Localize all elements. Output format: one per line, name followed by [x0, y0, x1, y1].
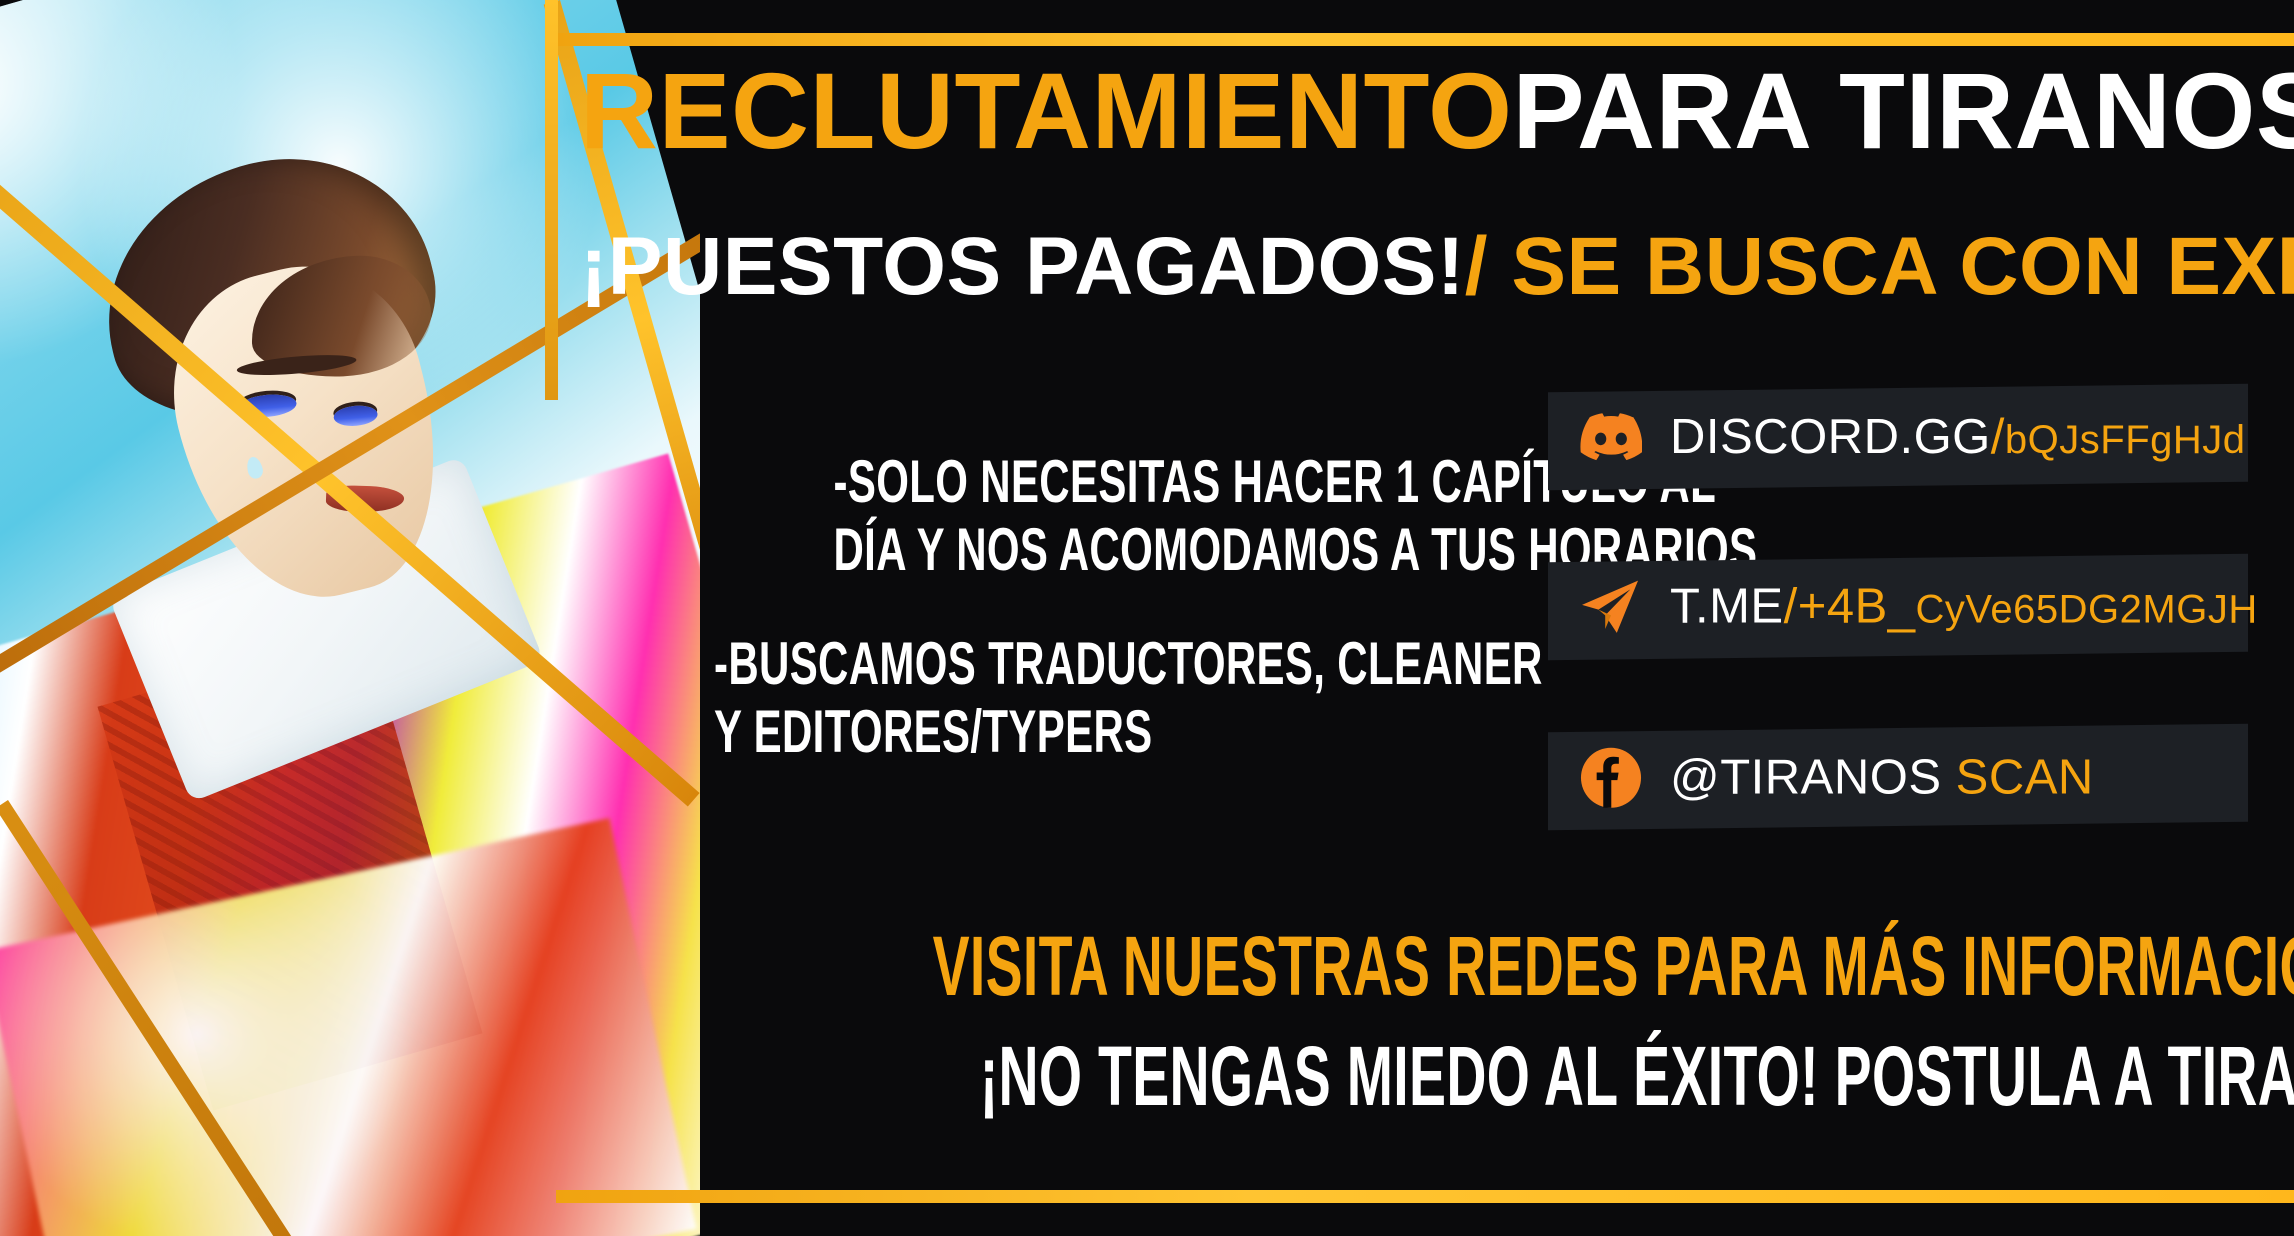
recruitment-banner: RECLUTAMIENTOPARA TIRANOS SCAN ¡PUESTOS …: [0, 0, 2294, 1236]
discord-icon: [1580, 406, 1642, 468]
contact-card-list: DISCORD.GG/bQJsFFgHJd T.ME/+4B_CyVe65DG2…: [1548, 388, 2248, 898]
gold-rule-vertical: [545, 0, 558, 400]
cta-line-1-wrap: VISITA NUESTRAS REDES PARA MÁS INFORMACI…: [560, 920, 2290, 1012]
subheadline: ¡PUESTOS PAGADOS!/ SE BUSCA CON EXPERIEN…: [580, 222, 2280, 312]
body-line: -BUSCAMOS TRADUCTORES, CLEANER: [714, 630, 1327, 698]
subheadline-paid: ¡PUESTOS PAGADOS!: [580, 221, 1465, 312]
contact-prefix-discord: /: [1991, 410, 2005, 464]
contact-card-facebook[interactable]: @TIRANOS SCAN: [1548, 724, 2248, 831]
contact-text-facebook: @TIRANOS SCAN: [1670, 750, 2094, 806]
headline-highlight: RECLUTAMIENTO: [580, 50, 1512, 171]
telegram-icon: [1580, 576, 1642, 638]
contact-prefix-facebook: [1942, 751, 1956, 805]
body-paragraph-schedule: -SOLO NECESITAS HACER 1 CAPÍTULO AL DÍA …: [700, 448, 1590, 584]
body-line: DÍA Y NOS ACOMODAMOS A TUS HORARIOS: [834, 516, 1457, 584]
contact-text-telegram: T.ME/+4B_CyVe65DG2MGJH: [1670, 579, 2258, 635]
contact-card-discord[interactable]: DISCORD.GG/bQJsFFgHJd: [1548, 384, 2248, 491]
contact-prefix-telegram: /+4B_: [1784, 580, 1916, 634]
body-line: -SOLO NECESITAS HACER 1 CAPÍTULO AL: [834, 448, 1457, 516]
body-line: Y EDITORES/TYPERS: [714, 698, 1327, 766]
subheadline-experience: / SE BUSCA CON EXPERIENCIA: [1465, 221, 2294, 312]
contact-label-telegram: T.ME: [1670, 580, 1784, 634]
call-to-action: VISITA NUESTRAS REDES PARA MÁS INFORMACI…: [560, 920, 2290, 1122]
contact-handle-discord: bQJsFFgHJd: [2005, 418, 2246, 462]
facebook-icon: [1580, 747, 1642, 809]
contact-label-discord: DISCORD.GG: [1670, 410, 1991, 464]
contact-handle-telegram: CyVe65DG2MGJH: [1916, 588, 2258, 632]
body-paragraph-roles: -BUSCAMOS TRADUCTORES, CLEANER Y EDITORE…: [700, 630, 1590, 766]
contact-handle-facebook: SCAN: [1956, 751, 2094, 805]
headline: RECLUTAMIENTOPARA TIRANOS SCAN: [580, 52, 2280, 170]
contact-card-content: @TIRANOS SCAN: [1580, 747, 2094, 809]
gold-rule-top: [556, 33, 2294, 46]
headline-rest: PARA TIRANOS SCAN: [1512, 50, 2294, 171]
contact-card-telegram[interactable]: T.ME/+4B_CyVe65DG2MGJH: [1548, 554, 2248, 661]
cta-line-1: VISITA NUESTRAS REDES PARA MÁS INFORMACI…: [933, 920, 2294, 1012]
cta-line-2-wrap: ¡NO TENGAS MIEDO AL ÉXITO! POSTULA A TIR…: [560, 1030, 2290, 1122]
cta-line-2: ¡NO TENGAS MIEDO AL ÉXITO! POSTULA A TIR…: [980, 1030, 2294, 1122]
contact-text-discord: DISCORD.GG/bQJsFFgHJd: [1670, 409, 2246, 465]
gold-rule-bottom: [556, 1190, 2294, 1203]
contact-card-content: T.ME/+4B_CyVe65DG2MGJH: [1580, 576, 2258, 638]
contact-card-content: DISCORD.GG/bQJsFFgHJd: [1580, 406, 2246, 468]
body-text-block: -SOLO NECESITAS HACER 1 CAPÍTULO AL DÍA …: [700, 448, 1590, 766]
contact-label-facebook: @TIRANOS: [1670, 751, 1942, 805]
